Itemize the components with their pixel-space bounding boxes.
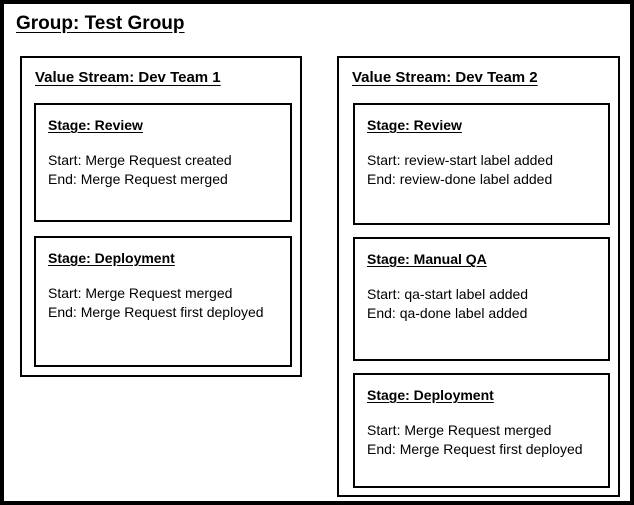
stage-criteria: Start: Merge Request merged End: Merge R… xyxy=(48,284,282,322)
stage-title: Stage: Deployment xyxy=(48,249,175,267)
stage-end-criterion: End: qa-done label added xyxy=(367,304,600,323)
diagram-canvas: Group: Test Group Value Stream: Dev Team… xyxy=(0,0,634,505)
stage-end-criterion: End: Merge Request merged xyxy=(48,170,282,189)
stage-box-deployment: Stage: Deployment Start: Merge Request m… xyxy=(34,236,292,367)
stage-start-criterion: Start: Merge Request created xyxy=(48,151,282,170)
stage-box-review: Stage: Review Start: review-start label … xyxy=(353,103,610,225)
group-title: Group: Test Group xyxy=(16,12,185,36)
stage-title: Stage: Review xyxy=(367,116,462,134)
stage-title: Stage: Manual QA xyxy=(367,250,487,268)
stage-end-criterion: End: review-done label added xyxy=(367,170,600,189)
stage-box-manual-qa: Stage: Manual QA Start: qa-start label a… xyxy=(353,237,610,361)
value-stream-panel-dev-team-2: Value Stream: Dev Team 2 Stage: Review S… xyxy=(337,56,620,497)
stage-end-criterion: End: Merge Request first deployed xyxy=(367,440,600,459)
stage-start-criterion: Start: qa-start label added xyxy=(367,285,600,304)
stage-end-criterion: End: Merge Request first deployed xyxy=(48,303,282,322)
stage-box-deployment: Stage: Deployment Start: Merge Request m… xyxy=(353,373,610,488)
stage-box-review: Stage: Review Start: Merge Request creat… xyxy=(34,103,292,222)
stage-criteria: Start: Merge Request created End: Merge … xyxy=(48,151,282,189)
stage-title: Stage: Review xyxy=(48,116,143,134)
stage-criteria: Start: review-start label added End: rev… xyxy=(367,151,600,189)
stage-start-criterion: Start: Merge Request merged xyxy=(48,284,282,303)
group-container-box: Group: Test Group Value Stream: Dev Team… xyxy=(0,0,634,505)
stage-title: Stage: Deployment xyxy=(367,386,494,404)
value-stream-title: Value Stream: Dev Team 2 xyxy=(352,68,538,88)
stage-start-criterion: Start: review-start label added xyxy=(367,151,600,170)
value-stream-title: Value Stream: Dev Team 1 xyxy=(35,68,221,88)
stage-criteria: Start: qa-start label added End: qa-done… xyxy=(367,285,600,323)
stage-start-criterion: Start: Merge Request merged xyxy=(367,421,600,440)
value-stream-panel-dev-team-1: Value Stream: Dev Team 1 Stage: Review S… xyxy=(20,56,302,377)
stage-criteria: Start: Merge Request merged End: Merge R… xyxy=(367,421,600,459)
